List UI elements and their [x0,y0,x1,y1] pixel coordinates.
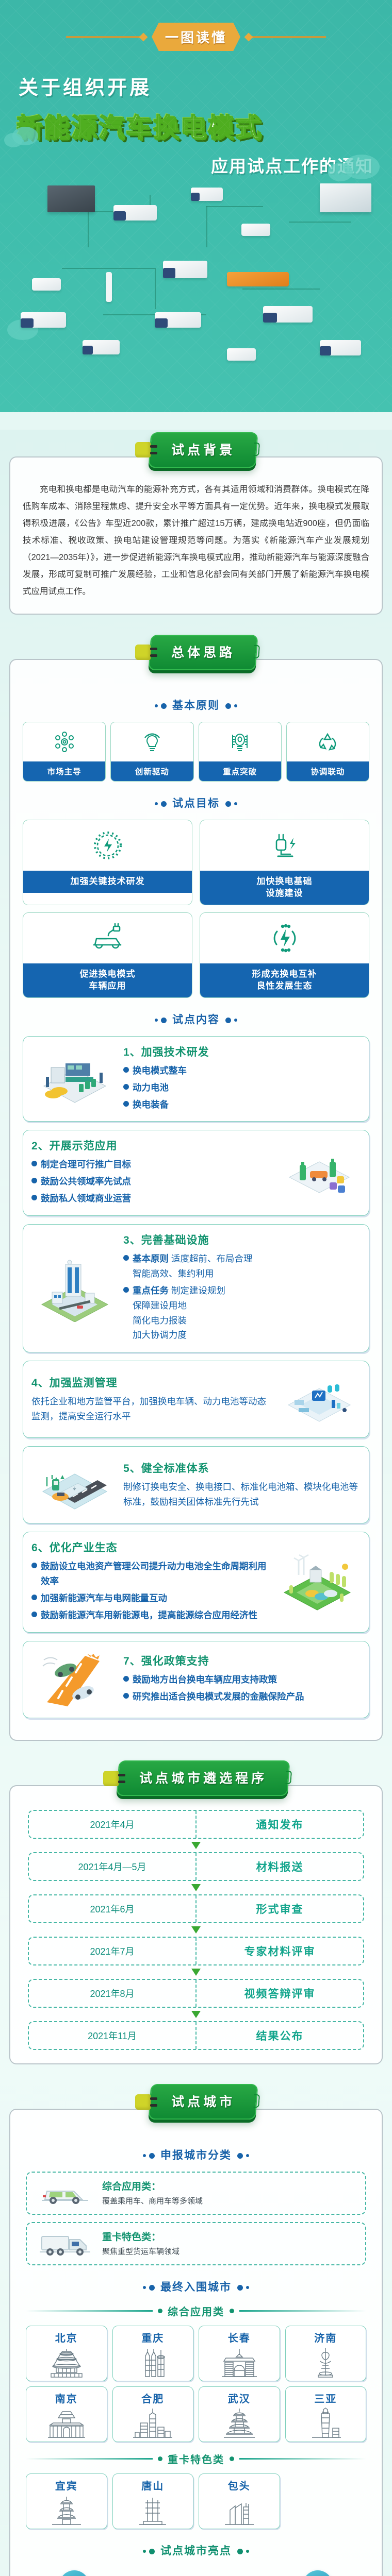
background-paragraph: 充电和换电都是电动汽车的能源补充方式，各有其适用领域和消费群体。换电模式在降低购… [23,481,369,600]
principle-card[interactable]: 重点突破 [199,722,282,782]
section-overall: 总体思路 基本原则 [9,632,383,1741]
content-item-title: 6、优化产业生态 [31,1539,269,1555]
nanjing-gate-icon [26,2405,107,2439]
content-item-text: 制修订换电安全、换电接口、标准化电池箱、模块化电池等标准，鼓励相关团体标准先行先… [123,1480,361,1510]
principle-label: 市场主导 [23,761,105,781]
jinan-spring-tower-icon [286,2345,366,2379]
goal-card[interactable]: 形成充换电互补 良性发展生态 [200,912,369,998]
bolt-cycle-icon [200,913,369,963]
content-bullet: 制定合理可行推广目标 [31,1157,269,1172]
bulb-innovation-icon [111,722,193,761]
goal-label: 加快换电基础 设施建设 [200,871,369,905]
city-class-name: 综合应用类： [102,2179,358,2193]
ribbon-line-left [66,36,143,38]
highlight-hub-diagram: 试点城市 产业基础好 换电模式 推广基础扎实 推广量大 示范应用 场景丰富 政策… [23,2567,369,2576]
hero-title-main: 新能源汽车换电模式 [17,107,392,144]
city-card[interactable]: 重庆 [112,2326,194,2381]
city-tower-icon [31,1258,118,1319]
timeline-date: 2021年4月 [29,1811,197,1838]
baotou-steel-icon [199,2493,280,2527]
content-bullet: 鼓励地方出台换电车辆应用支持政策 [123,1672,361,1687]
content-bullet: 重点任务 制定建设规划 保障建设用地 简化电力报装 加大协调力度 [123,1283,361,1343]
gear-bolt-icon [23,820,192,871]
city-card[interactable]: 长春 [199,2326,280,2381]
city-card[interactable]: 唐山 [112,2473,194,2529]
content-bullet: 基本原则 适度超前、布局合理 智能高效、集约利用 [123,1251,361,1281]
principle-card[interactable]: 创新驱动 [110,722,193,782]
city-group-header: 重卡特色类 [26,2451,366,2466]
section-procedure: 试点城市遴选程序 2021年4月 通知发布 2021年4月—5月 材料报送 20… [9,1758,383,2064]
content-item: 3、完善基础设施 基本原则 适度超前、布局合理 智能高效、集约利用 重点任务 制… [23,1224,369,1352]
city-name: 济南 [286,2330,366,2345]
content-bullet: 鼓励公共领域率先试点 [31,1174,269,1189]
monitor-platform-icon [274,1368,361,1430]
content-item-title: 5、健全标准体系 [123,1460,361,1476]
ev-car-plug-icon [23,913,192,963]
subhead-final-cities: 最终入围城市 [23,2279,369,2294]
city-card[interactable]: 北京 [26,2326,107,2381]
timeline-arrow-icon [23,2008,369,2021]
timeline-date: 2021年7月 [29,1938,197,1964]
goal-label: 促进换电模式 车辆应用 [23,963,192,997]
timeline-date: 2021年11月 [29,2022,197,2049]
city-name: 武汉 [199,2391,280,2405]
timeline-action: 通知发布 [197,1811,363,1838]
policy-road-icon [31,1649,118,1710]
content-bullet: 鼓励私人领域商业运营 [31,1191,269,1206]
city-name: 宜宾 [26,2478,107,2493]
city-name: 长春 [199,2330,280,2345]
content-item: 1、加强技术研发 换电模式整车 动力电池 换电装备 [23,1036,369,1122]
city-grid-comprehensive: 北京 重庆 [26,2326,366,2442]
hub-node-bubble: 推广量大 [303,2570,333,2576]
badge-label: 试点城市遴选程序 [117,1760,290,1796]
city-group-name: 重卡特色类 [168,2451,224,2466]
plug-icon [103,1771,119,1786]
content-item-title: 1、加强技术研发 [123,1044,361,1059]
recycle-icon [287,722,369,761]
yellow-crane-tower-icon [199,2405,280,2439]
infographic-page: 一图读懂 关于组织开展 新能源汽车换电模式 应用试点工作的通知 [0,0,392,2576]
ribbon-header: 一图读懂 [0,23,392,51]
goals-grid-row1: 加强关键技术研发 加快换电基础 设施建设 [23,820,369,905]
timeline-action: 视频答辩评审 [197,1980,363,2007]
factory-assembly-icon [31,1048,118,1110]
city-card[interactable]: 南京 [26,2386,107,2442]
city-card[interactable]: 包头 [199,2473,280,2529]
content-sublabel: 基本原则 [133,1253,169,1264]
changchun-hall-icon [199,2345,280,2379]
city-card[interactable]: 合肥 [112,2386,194,2442]
city-class-desc: 覆盖乘用车、商用车等多领域 [102,2195,358,2208]
subhead-content: 试点内容 [23,1011,369,1027]
ribbon-line-right [249,36,326,38]
timeline-date: 2021年8月 [29,1980,197,2007]
content-bullet: 鼓励新能源汽车用新能源电，提高能源综合应用经济性 [31,1608,269,1623]
timeline-step: 2021年4月 通知发布 [28,1810,364,1839]
timeline-arrow-icon [23,1965,369,1979]
badge-cities: 试点城市 [9,2082,383,2122]
hefei-skyline-icon [113,2405,193,2439]
city-grid-heavy-truck: 宜宾 唐山 [26,2473,366,2529]
city-group-name: 综合应用类 [168,2303,224,2318]
goal-card[interactable]: 促进换电模式 车辆应用 [23,912,192,998]
timeline-step: 2021年8月 视频答辩评审 [28,1979,364,2008]
badge-background: 试点背景 [9,430,383,470]
content-item: 7、强化政策支持 鼓励地方出台换电车辆应用支持政策 研究推出适合换电模式发展的金… [23,1641,369,1718]
ribbon-diamond-left [139,32,148,41]
badge-procedure: 试点城市遴选程序 [9,1758,383,1799]
timeline-action: 形式审查 [197,1895,363,1922]
bulb-target-icon [199,722,281,761]
hub-node[interactable]: 产业基础好 换电模式 推广基础扎实 [46,2570,102,2576]
content-item: 5、健全标准体系 制修订换电安全、换电接口、标准化电池箱、模块化电池等标准，鼓励… [23,1446,369,1523]
content-bullet: 换电装备 [123,1097,361,1112]
content-item: 2、开展示范应用 制定合理可行推广目标 鼓励公共领域率先试点 鼓励私人领域商业运… [23,1130,369,1216]
subhead-goals: 试点目标 [23,795,369,810]
plug-bolt-icon [200,820,369,871]
city-name: 北京 [26,2330,107,2345]
city-group-header: 综合应用类 [26,2303,366,2318]
timeline-action: 结果公布 [197,2022,363,2049]
timeline-date: 2021年6月 [29,1895,197,1922]
content-item: 4、加强监测管理 依托企业和地方监管平台，加强换电车辆、动力电池等动态监测，提高… [23,1361,369,1438]
goal-card[interactable]: 加强关键技术研发 [23,820,192,905]
principles-grid: 市场主导 创新驱动 [23,722,369,782]
plug-icon [135,645,151,660]
network-icon [23,722,105,761]
timeline-arrow-icon [23,1923,369,1937]
ribbon-label: 一图读懂 [152,23,240,51]
procedure-card: 2021年4月 通知发布 2021年4月—5月 材料报送 2021年6月 形式审… [9,1785,383,2064]
battery-swap-app-icon [274,1142,361,1204]
hero-line-3: 应用试点工作的通知 [0,152,373,177]
content-item-title: 7、强化政策支持 [123,1653,361,1668]
city-class-row: 重卡特色类： 聚焦重型货运车辆领域 [26,2222,366,2265]
section-background: 试点背景 充电和换电都是电动汽车的能源补充方式，各有其适用领域和消费群体。换电模… [9,430,383,615]
heavy-truck-icon [34,2229,96,2258]
city-name: 合肥 [113,2391,193,2405]
ribbon-diamond-right [244,32,253,41]
goal-label: 加强关键技术研发 [23,871,192,893]
temple-of-heaven-icon [26,2345,107,2379]
green-energy-island-icon [274,1551,361,1613]
principle-label: 创新驱动 [111,761,193,781]
yibin-tower-icon [26,2493,107,2527]
city-name: 三亚 [286,2391,366,2405]
cloud-decor [328,163,353,181]
badge-label: 试点城市 [149,2084,258,2120]
swap-station-road-icon [31,1454,118,1516]
principle-card[interactable]: 市场主导 [23,722,106,782]
city-class-desc: 聚焦重型货运车辆领域 [102,2246,358,2258]
plug-icon [135,2094,151,2110]
principle-label: 协调联动 [287,761,369,781]
city-name: 包头 [199,2478,280,2493]
badge-label: 试点背景 [149,432,258,468]
subhead-principles: 基本原则 [23,697,369,713]
city-name: 南京 [26,2391,107,2405]
city-card[interactable]: 三亚 [285,2386,367,2442]
city-class-name: 重卡特色类： [102,2229,358,2243]
city-name: 唐山 [113,2478,193,2493]
hub-node[interactable]: 推广量大 示范应用 场景丰富 [290,2570,346,2576]
cities-card: 申报城市分类 [9,2109,383,2576]
principle-label: 重点突破 [199,761,281,781]
city-card[interactable]: 济南 [285,2326,367,2381]
subhead-highlights: 试点城市亮点 [23,2543,369,2558]
timeline-step: 2021年11月 结果公布 [28,2021,364,2050]
badge-overall: 总体思路 [9,632,383,672]
hero-illustration [0,191,392,397]
sanya-tower-icon [286,2405,366,2439]
timeline-arrow-icon [23,1839,369,1852]
content-bullet: 加强新能源汽车与电网能量互动 [31,1591,269,1606]
city-card[interactable]: 宜宾 [26,2473,107,2529]
hub-node-bubble: 产业基础好 [59,2570,89,2576]
chongqing-towers-icon [113,2345,193,2379]
content-item: 6、优化产业生态 鼓励设立电池资产管理公司提升动力电池全生命周期利用效率 加强新… [23,1532,369,1633]
hero-banner: 一图读懂 关于组织开展 新能源汽车换电模式 应用试点工作的通知 [0,0,392,412]
background-card: 充电和换电都是电动汽车的能源补充方式，各有其适用领域和消费群体。换电模式在降低购… [9,456,383,615]
content-bullet: 动力电池 [123,1080,361,1095]
content-item-title: 4、加强监测管理 [31,1375,269,1390]
goal-label: 形成充换电互补 良性发展生态 [200,963,369,997]
timeline-step: 2021年7月 专家材料评审 [28,1937,364,1965]
cloud-decor [4,133,23,147]
content-bullet: 鼓励设立电池资产管理公司提升动力电池全生命周期利用效率 [31,1559,269,1589]
section-cities: 试点城市 申报城市分类 [9,2082,383,2576]
timeline-action: 专家材料评审 [197,1938,363,1964]
plug-icon [135,442,151,457]
principle-card[interactable]: 协调联动 [286,722,369,782]
hero-line-1: 关于组织开展 [19,72,392,100]
timeline-step: 2021年6月 形式审查 [28,1894,364,1923]
timeline-step: 2021年4月—5月 材料报送 [28,1852,364,1881]
subhead-apply-classes: 申报城市分类 [23,2147,369,2162]
overall-card: 基本原则 市场主导 [9,659,383,1741]
city-name: 重庆 [113,2330,193,2345]
timeline-action: 材料报送 [197,1853,363,1880]
goals-grid-row2: 促进换电模式 车辆应用 形成充换电互补 良性发展生 [23,912,369,998]
content-item-title: 2、开展示范应用 [31,1138,269,1153]
content-bullet: 研究推出适合换电模式发展的金融保险产品 [123,1689,361,1704]
timeline-arrow-icon [23,1881,369,1894]
city-class-row: 综合应用类： 覆盖乘用车、商用车等多领域 [26,2172,366,2215]
city-card[interactable]: 武汉 [199,2386,280,2442]
content-bullet: 换电模式整车 [123,1063,361,1078]
ev-car-icon [34,2179,96,2208]
goal-card[interactable]: 加快换电基础 设施建设 [200,820,369,905]
tangshan-monument-icon [113,2493,193,2527]
timeline-date: 2021年4月—5月 [29,1853,197,1880]
content-sublabel: 重点任务 [133,1285,169,1296]
content-item-title: 3、完善基础设施 [123,1232,361,1247]
badge-label: 总体思路 [149,635,258,670]
content-item-text: 依托企业和地方监管平台，加强换电车辆、动力电池等动态监测，提高安全运行水平 [31,1394,269,1424]
